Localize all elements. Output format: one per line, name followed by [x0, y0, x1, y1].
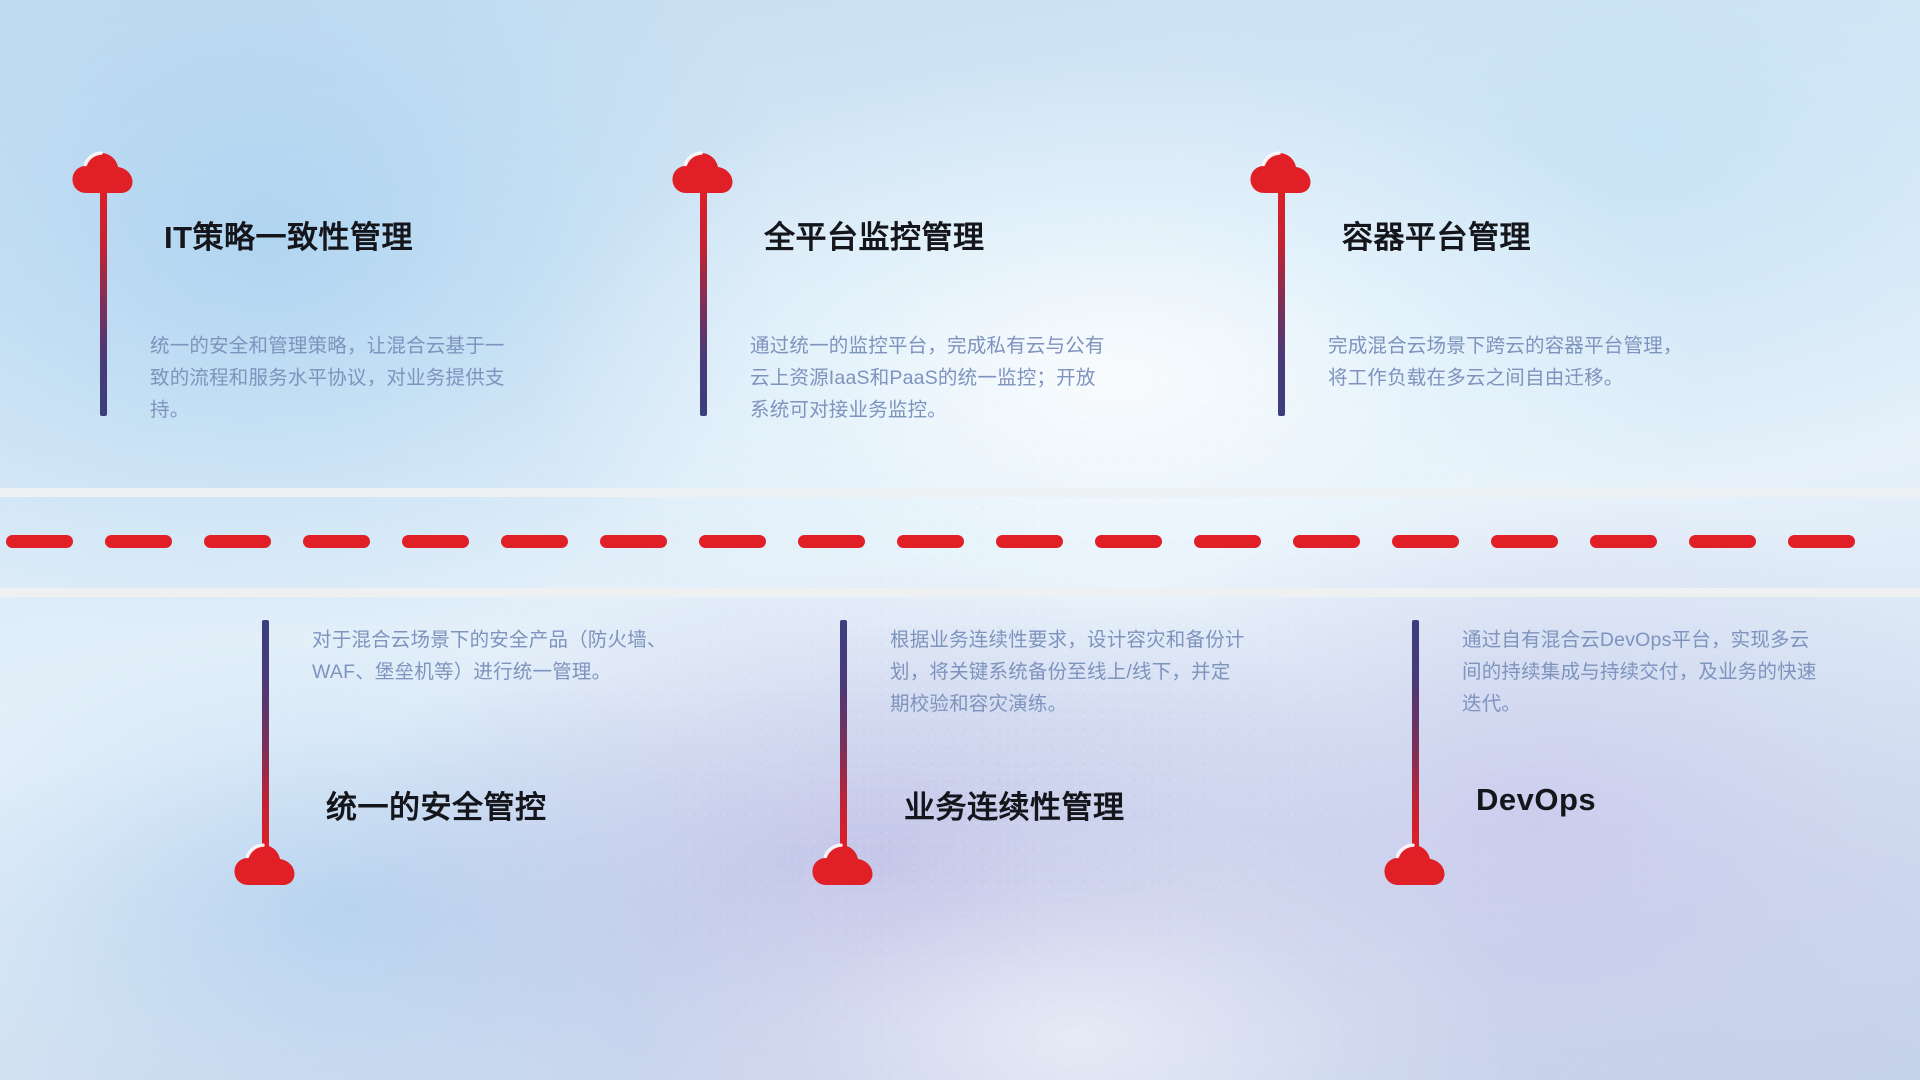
road-dash — [303, 535, 370, 548]
road-edge-line-top — [0, 488, 1920, 497]
card-description: 通过自有混合云DevOps平台，实现多云间的持续集成与持续交付，及业务的快速迭代… — [1462, 624, 1822, 720]
road-dash — [1194, 535, 1261, 548]
road-dash — [1788, 535, 1855, 548]
connector-stem — [700, 186, 707, 416]
road-dash — [1095, 535, 1162, 548]
cloud-pin-icon — [72, 150, 134, 194]
cloud-pin-icon — [672, 150, 734, 194]
road-dash — [1590, 535, 1657, 548]
connector-stem — [100, 186, 107, 416]
road-dash — [1491, 535, 1558, 548]
cloud-pin-icon — [234, 842, 296, 886]
road-divider — [0, 488, 1920, 598]
card-title: DevOps — [1476, 782, 1596, 818]
connector-stem — [840, 620, 847, 852]
road-dash — [1293, 535, 1360, 548]
card-description: 统一的安全和管理策略，让混合云基于一致的流程和服务水平协议，对业务提供支持。 — [150, 330, 510, 426]
cloud-pin-icon — [1384, 842, 1446, 886]
road-dash — [1392, 535, 1459, 548]
card-title: 全平台监控管理 — [764, 212, 985, 257]
card-description: 对于混合云场景下的安全产品（防火墙、WAF、堡垒机等）进行统一管理。 — [312, 624, 672, 688]
top-card-row: IT策略一致性管理统一的安全和管理策略，让混合云基于一致的流程和服务水平协议，对… — [0, 150, 1920, 480]
bottom-card-row: 统一的安全管控对于混合云场景下的安全产品（防火墙、WAF、堡垒机等）进行统一管理… — [0, 620, 1920, 960]
card-description: 完成混合云场景下跨云的容器平台管理，将工作负载在多云之间自由迁移。 — [1328, 330, 1688, 394]
road-dash — [600, 535, 667, 548]
card-title: 业务连续性管理 — [904, 782, 1125, 827]
road-dash — [402, 535, 469, 548]
card-title: 统一的安全管控 — [326, 782, 547, 827]
road-dash — [105, 535, 172, 548]
road-dash — [501, 535, 568, 548]
road-dash — [1689, 535, 1756, 548]
road-dash — [798, 535, 865, 548]
cloud-pin-icon — [1250, 150, 1312, 194]
road-dash — [699, 535, 766, 548]
road-dash — [6, 535, 73, 548]
card-description: 通过统一的监控平台，完成私有云与公有云上资源IaaS和PaaS的统一监控；开放系… — [750, 330, 1110, 426]
road-dash — [897, 535, 964, 548]
road-dash — [204, 535, 271, 548]
card-title: 容器平台管理 — [1342, 212, 1531, 257]
connector-stem — [262, 620, 269, 852]
connector-stem — [1278, 186, 1285, 416]
road-edge-line-bottom — [0, 588, 1920, 597]
card-description: 根据业务连续性要求，设计容灾和备份计划，将关键系统备份至线上/线下，并定期校验和… — [890, 624, 1250, 720]
cloud-pin-icon — [812, 842, 874, 886]
road-center-dashes — [0, 535, 1920, 548]
card-title: IT策略一致性管理 — [164, 212, 413, 257]
connector-stem — [1412, 620, 1419, 852]
road-dash — [996, 535, 1063, 548]
